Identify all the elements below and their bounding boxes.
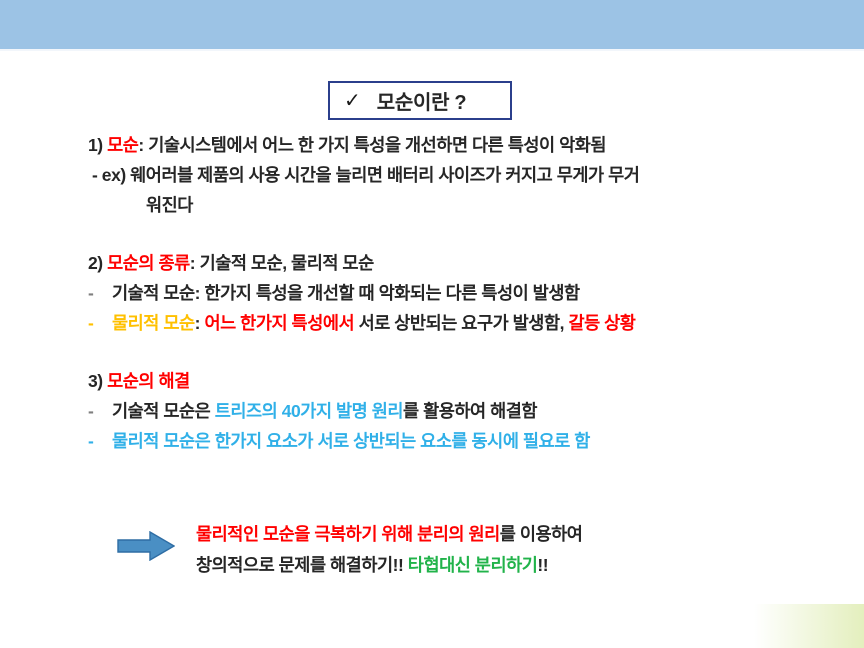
body-content: 1) 모순: 기술시스템에서 어느 한 가지 특성을 개선하면 다른 특성이 악… bbox=[88, 130, 828, 456]
section-1-example-text: 웨어러블 제품의 사용 시간을 늘리면 배터리 사이즈가 커지고 무게가 무거 bbox=[130, 165, 639, 185]
top-banner-edge bbox=[0, 49, 864, 51]
callout-text-block: 물리적인 모순을 극복하기 위해 분리의 원리를 이용하여 창의적으로 문제를 … bbox=[196, 519, 796, 581]
callout-line-2-tail: !! bbox=[537, 555, 548, 575]
bullet-dash-icon: - bbox=[88, 396, 112, 426]
section-2-bullet-1: -기술적 모순: 한가지 특성을 개선할 때 악화되는 다른 특성이 발생함 bbox=[88, 278, 828, 308]
corner-gradient-artifact bbox=[754, 604, 864, 648]
section-1-number: 1) bbox=[88, 135, 103, 155]
section-3-keyword: 모순의 해결 bbox=[107, 371, 190, 391]
section-3-bullet-1-pre: 기술적 모순은 bbox=[112, 401, 210, 421]
section-1-example-prefix: - ex) bbox=[92, 165, 126, 185]
slide-canvas: ✓ 모순이란 ? 1) 모순: 기술시스템에서 어느 한 가지 특성을 개선하면… bbox=[0, 0, 864, 648]
bullet-dash-icon: - bbox=[88, 308, 112, 338]
callout-line-1-red: 물리적인 모순을 극복하기 위해 분리의 원리 bbox=[196, 524, 500, 544]
section-2-number: 2) bbox=[88, 253, 103, 273]
right-arrow-icon bbox=[117, 531, 175, 561]
section-2-heading: 2) 모순의 종류: 기술적 모순, 물리적 모순 bbox=[88, 248, 828, 278]
section-1-example-cont: 워진다 bbox=[88, 190, 828, 220]
section-3-number: 3) bbox=[88, 371, 103, 391]
section-1-rest: 기술시스템에서 어느 한 가지 특성을 개선하면 다른 특성이 악화됨 bbox=[144, 135, 606, 155]
spacer-2 bbox=[88, 338, 828, 366]
bullet-dash-icon: - bbox=[88, 426, 112, 456]
callout-line-2-green: 타협대신 분리하기 bbox=[408, 555, 538, 575]
section-3-heading: 3) 모순의 해결 bbox=[88, 366, 828, 396]
section-3-bullet-2: -물리적 모순은 한가지 요소가 서로 상반되는 요소를 동시에 필요로 함 bbox=[88, 426, 828, 456]
section-1-example-cont-text: 워진다 bbox=[146, 195, 193, 215]
title-box: ✓ 모순이란 ? bbox=[328, 81, 512, 120]
section-2-bullet-1-text: 기술적 모순: 한가지 특성을 개선할 때 악화되는 다른 특성이 발생함 bbox=[112, 283, 580, 303]
section-2-bullet-2-red1: 어느 한가지 특성에서 bbox=[200, 313, 354, 333]
section-3-bullet-1: -기술적 모순은 트리즈의 40가지 발명 원리를 활용하여 해결함 bbox=[88, 396, 828, 426]
section-1-keyword: 모순 bbox=[107, 135, 138, 155]
callout-line-1-dark: 를 이용하여 bbox=[500, 524, 583, 544]
check-icon: ✓ bbox=[344, 91, 361, 111]
section-2-bullet-2-red2: 갈등 상황 bbox=[564, 313, 635, 333]
section-2-bullet-2-keyword: 물리적 모순 bbox=[112, 313, 195, 333]
callout-line-2-dark: 창의적으로 문제를 해결하기!! bbox=[196, 555, 408, 575]
section-3-bullet-2-text: 물리적 모순은 한가지 요소가 서로 상반되는 요소를 동시에 필요로 함 bbox=[112, 431, 590, 451]
section-3-bullet-1-post: 를 활용하여 해결함 bbox=[403, 401, 537, 421]
section-2-bullet-2-dark: 서로 상반되는 요구가 발생함, bbox=[354, 313, 564, 333]
callout-line-1: 물리적인 모순을 극복하기 위해 분리의 원리를 이용하여 bbox=[196, 519, 796, 550]
top-banner bbox=[0, 0, 864, 49]
callout-line-2: 창의적으로 문제를 해결하기!! 타협대신 분리하기!! bbox=[196, 550, 796, 581]
section-2-keyword: 모순의 종류 bbox=[107, 253, 190, 273]
section-1-example: - ex) 웨어러블 제품의 사용 시간을 늘리면 배터리 사이즈가 커지고 무… bbox=[88, 160, 828, 190]
bullet-dash-icon: - bbox=[88, 278, 112, 308]
page-title: 모순이란 ? bbox=[377, 86, 467, 115]
section-2-rest: 기술적 모순, 물리적 모순 bbox=[195, 253, 374, 273]
section-1-heading: 1) 모순: 기술시스템에서 어느 한 가지 특성을 개선하면 다른 특성이 악… bbox=[88, 130, 828, 160]
section-3-bullet-1-highlight: 트리즈의 40가지 발명 원리 bbox=[210, 401, 403, 421]
section-2-bullet-2: -물리적 모순: 어느 한가지 특성에서 서로 상반되는 요구가 발생함, 갈등… bbox=[88, 308, 828, 338]
spacer-1 bbox=[88, 220, 828, 248]
